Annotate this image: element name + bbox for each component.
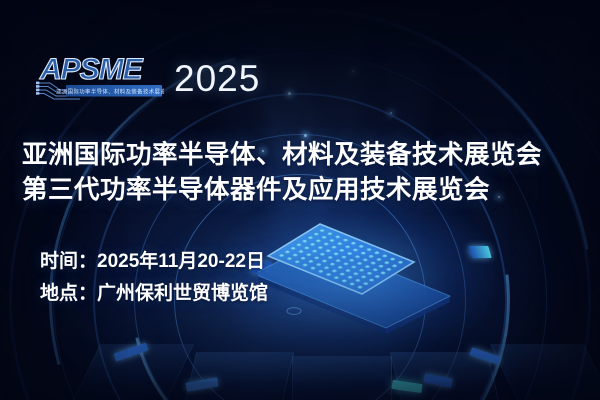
accent-bar-cyan bbox=[392, 380, 423, 393]
title-block: 亚洲国际功率半导体、材料及装备技术展览会 第三代功率半导体器件及应用技术展览会 bbox=[22, 138, 584, 208]
apsme-logo-svg: APSME 亚洲国际功率半导体、材料及装备技术展览会 bbox=[36, 52, 164, 102]
logo-block: APSME 亚洲国际功率半导体、材料及装备技术展览会 bbox=[36, 52, 260, 102]
year-label: 2025 bbox=[174, 60, 260, 97]
accent-bar bbox=[423, 373, 452, 387]
semiconductor-chip-graphic bbox=[258, 216, 458, 336]
platform-plate bbox=[490, 344, 600, 400]
glow-particle bbox=[390, 112, 392, 114]
event-date: 时间：2025年11月20-22日 bbox=[40, 246, 268, 278]
circuit-pad bbox=[36, 82, 39, 95]
glow-particle bbox=[352, 70, 354, 72]
platform-plate bbox=[292, 356, 392, 400]
exhibition-poster: APSME 亚洲国际功率半导体、材料及装备技术展览会 bbox=[0, 0, 600, 400]
apsme-wordmark: APSME bbox=[39, 53, 144, 86]
apsme-logo: APSME 亚洲国际功率半导体、材料及装备技术展览会 bbox=[36, 52, 164, 102]
accent-bar bbox=[114, 343, 149, 362]
glow-particle bbox=[304, 134, 307, 137]
title-line-1: 亚洲国际功率半导体、材料及装备技术展览会 bbox=[22, 138, 584, 173]
platform-plate bbox=[72, 344, 194, 400]
logo-subtitle-text: 亚洲国际功率半导体、材料及装备技术展览会 bbox=[56, 88, 164, 96]
event-venue: 地点：广州保利世贸博览馆 bbox=[40, 278, 268, 310]
title-line-2: 第三代功率半导体器件及应用技术展览会 bbox=[22, 173, 584, 208]
accent-bar bbox=[185, 377, 218, 391]
glow-particle bbox=[288, 92, 291, 95]
info-block: 时间：2025年11月20-22日 地点：广州保利世贸博览馆 bbox=[40, 246, 268, 310]
